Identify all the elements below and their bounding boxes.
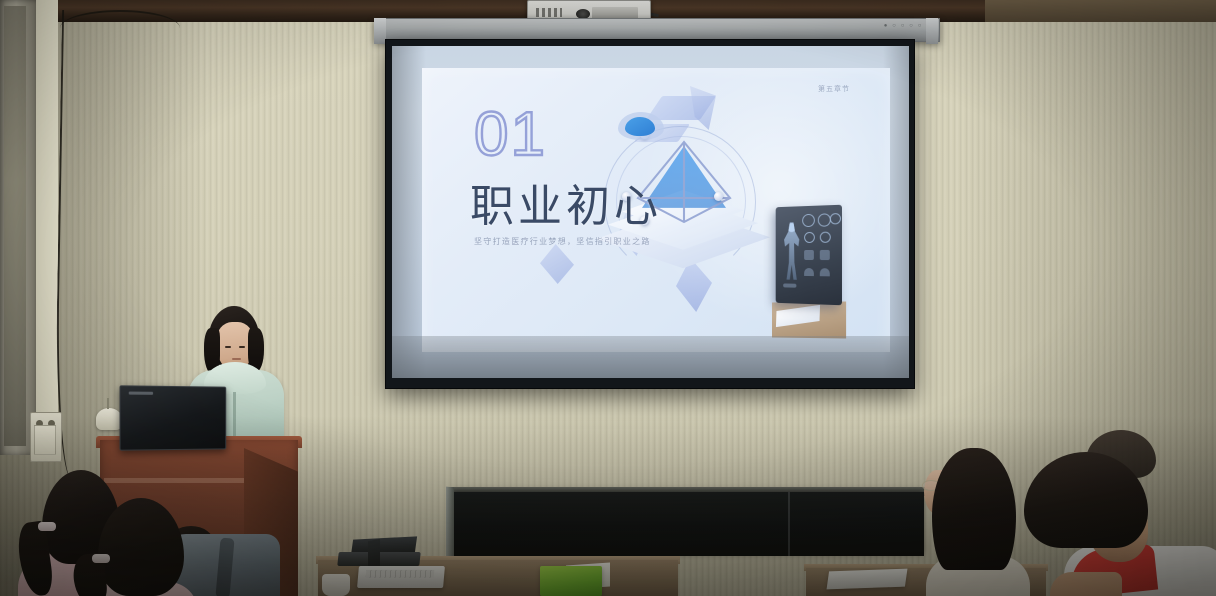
slide-subtitle: 坚守打造医疗行业梦想，坚信指引职业之路 (474, 236, 651, 247)
slide-ribbon-d (540, 244, 574, 284)
projection-screen: 01 职业初心 坚守打造医疗行业梦想，坚信指引职业之路 第五章节 (386, 40, 914, 388)
presenter-mouth (232, 358, 241, 360)
slide-corner-label: 第五章节 (818, 84, 850, 94)
housing-end-cap-right (926, 18, 938, 44)
panel-dot-icon-1 (802, 214, 815, 227)
anatomy-figure-icon (784, 222, 799, 280)
panel-arch-icon-2 (820, 268, 830, 276)
panel-bar-icon (783, 283, 796, 287)
housing-end-cap-left (374, 18, 386, 44)
projection-screen-surface: 01 职业初心 坚守打造医疗行业梦想，坚信指引职业之路 第五章节 (392, 46, 909, 378)
screen-lower-unlit-band (392, 336, 909, 378)
projector-vents (536, 8, 562, 17)
cloud-icon-front (625, 117, 655, 136)
presenter-eye-left (225, 346, 231, 348)
screen-edge-shade-left (392, 46, 426, 378)
room-floor-shadow (0, 416, 1216, 596)
projection-screen-housing: ● ○ ○ ○ ○ (374, 18, 940, 42)
slide-section-number: 01 (474, 104, 547, 166)
panel-dot-icon-3 (830, 213, 841, 225)
left-door-frame-inner (4, 6, 26, 446)
panel-dot-icon-2 (818, 213, 831, 227)
left-door-frame-edge (36, 0, 58, 455)
presentation-slide: 01 职业初心 坚守打造医疗行业梦想，坚信指引职业之路 第五章节 (422, 68, 890, 352)
panel-dot-icon-4 (804, 232, 815, 243)
network-node-right (714, 192, 723, 201)
medical-dashboard-panel (776, 205, 842, 306)
ceiling-beam-right-section (985, 0, 1216, 22)
slide-title: 职业初心 (470, 170, 662, 234)
classroom-scene: ● ○ ○ ○ ○ (0, 0, 1216, 596)
cloud-icon (618, 112, 664, 142)
housing-brand-mark: ● ○ ○ ○ ○ (884, 23, 923, 29)
monitor-brand-logo (129, 392, 153, 395)
panel-arch-icon-1 (804, 268, 814, 276)
panel-dot-icon-5 (820, 232, 831, 243)
presenter-eye-right (239, 346, 245, 348)
panel-square-icon-2 (820, 250, 830, 260)
panel-square-icon-1 (804, 250, 814, 260)
